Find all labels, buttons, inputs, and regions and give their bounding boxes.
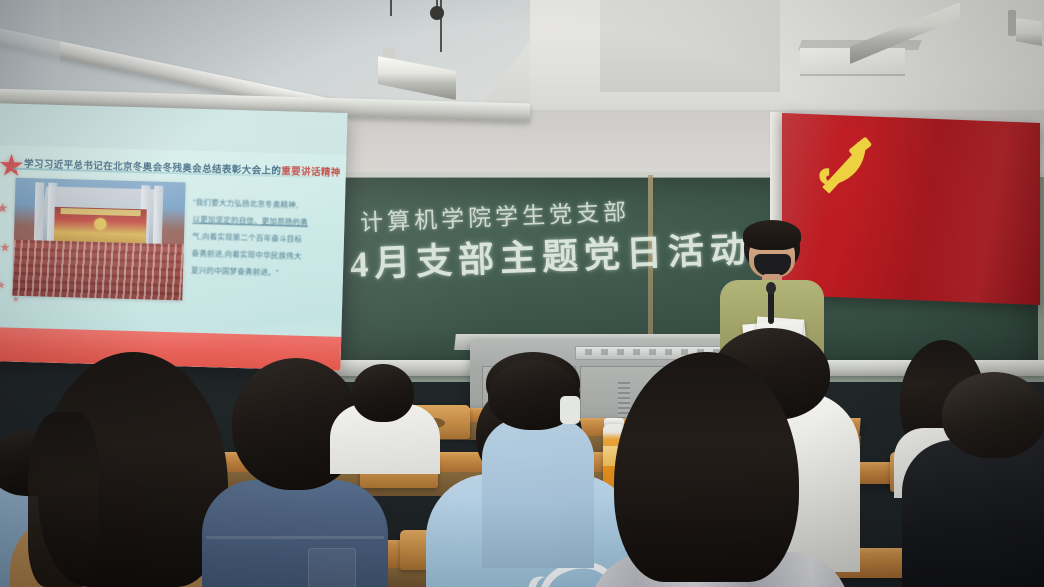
hall-column	[153, 186, 164, 246]
quote-line: 复兴的中国梦奋勇前进。"	[191, 262, 323, 283]
face-mask	[754, 254, 791, 276]
torso-black	[902, 440, 1044, 587]
long-hair-strand	[28, 412, 98, 587]
lamp-wire	[390, 0, 392, 16]
slide-quote: "我们要大力弘扬北京冬奥精神, 以更加坚定的自信、更加昂扬的勇 气,向着实现第二…	[191, 195, 325, 283]
torso-denim	[202, 480, 388, 587]
hammer-sickle-icon	[810, 131, 882, 204]
slide-star-icon: ★	[12, 296, 19, 304]
projector-screen: ★ ★ ★ ★ ★ ★ 学习习近平总书记在北京冬奥会冬残奥会总结表彰大会上的重要…	[0, 103, 348, 371]
presentation-slide: ★ ★ ★ ★ ★ ★ 学习习近平总书记在北京冬奥会冬残奥会总结表彰大会上的重要…	[0, 145, 346, 371]
hall-column	[34, 182, 45, 242]
head	[352, 364, 414, 422]
head	[942, 372, 1044, 458]
microphone-head	[766, 282, 776, 294]
slide-star-icon: ★	[0, 281, 6, 291]
slide-star-icon: ★	[0, 201, 9, 214]
slide-star-icon: ★	[0, 241, 11, 253]
slide-photo-great-hall	[12, 178, 185, 301]
lamp-bracket-3	[1008, 10, 1016, 36]
lamp-bracket-2	[430, 6, 444, 20]
lamp-bracket	[383, 48, 395, 58]
ceiling-panel	[600, 0, 780, 92]
torso	[482, 418, 594, 568]
microphone	[768, 290, 774, 324]
classroom-scene: 计算机学院学生党支部 4月支部主题党日活动 ★ ★ ★ ★ ★ ★ 学习习近平总…	[0, 0, 1044, 587]
face-mask	[560, 396, 580, 424]
speaker-hair	[743, 220, 801, 250]
denim-pocket	[308, 548, 356, 587]
denim-yoke-seam	[206, 536, 384, 539]
hall-seating	[12, 240, 183, 301]
